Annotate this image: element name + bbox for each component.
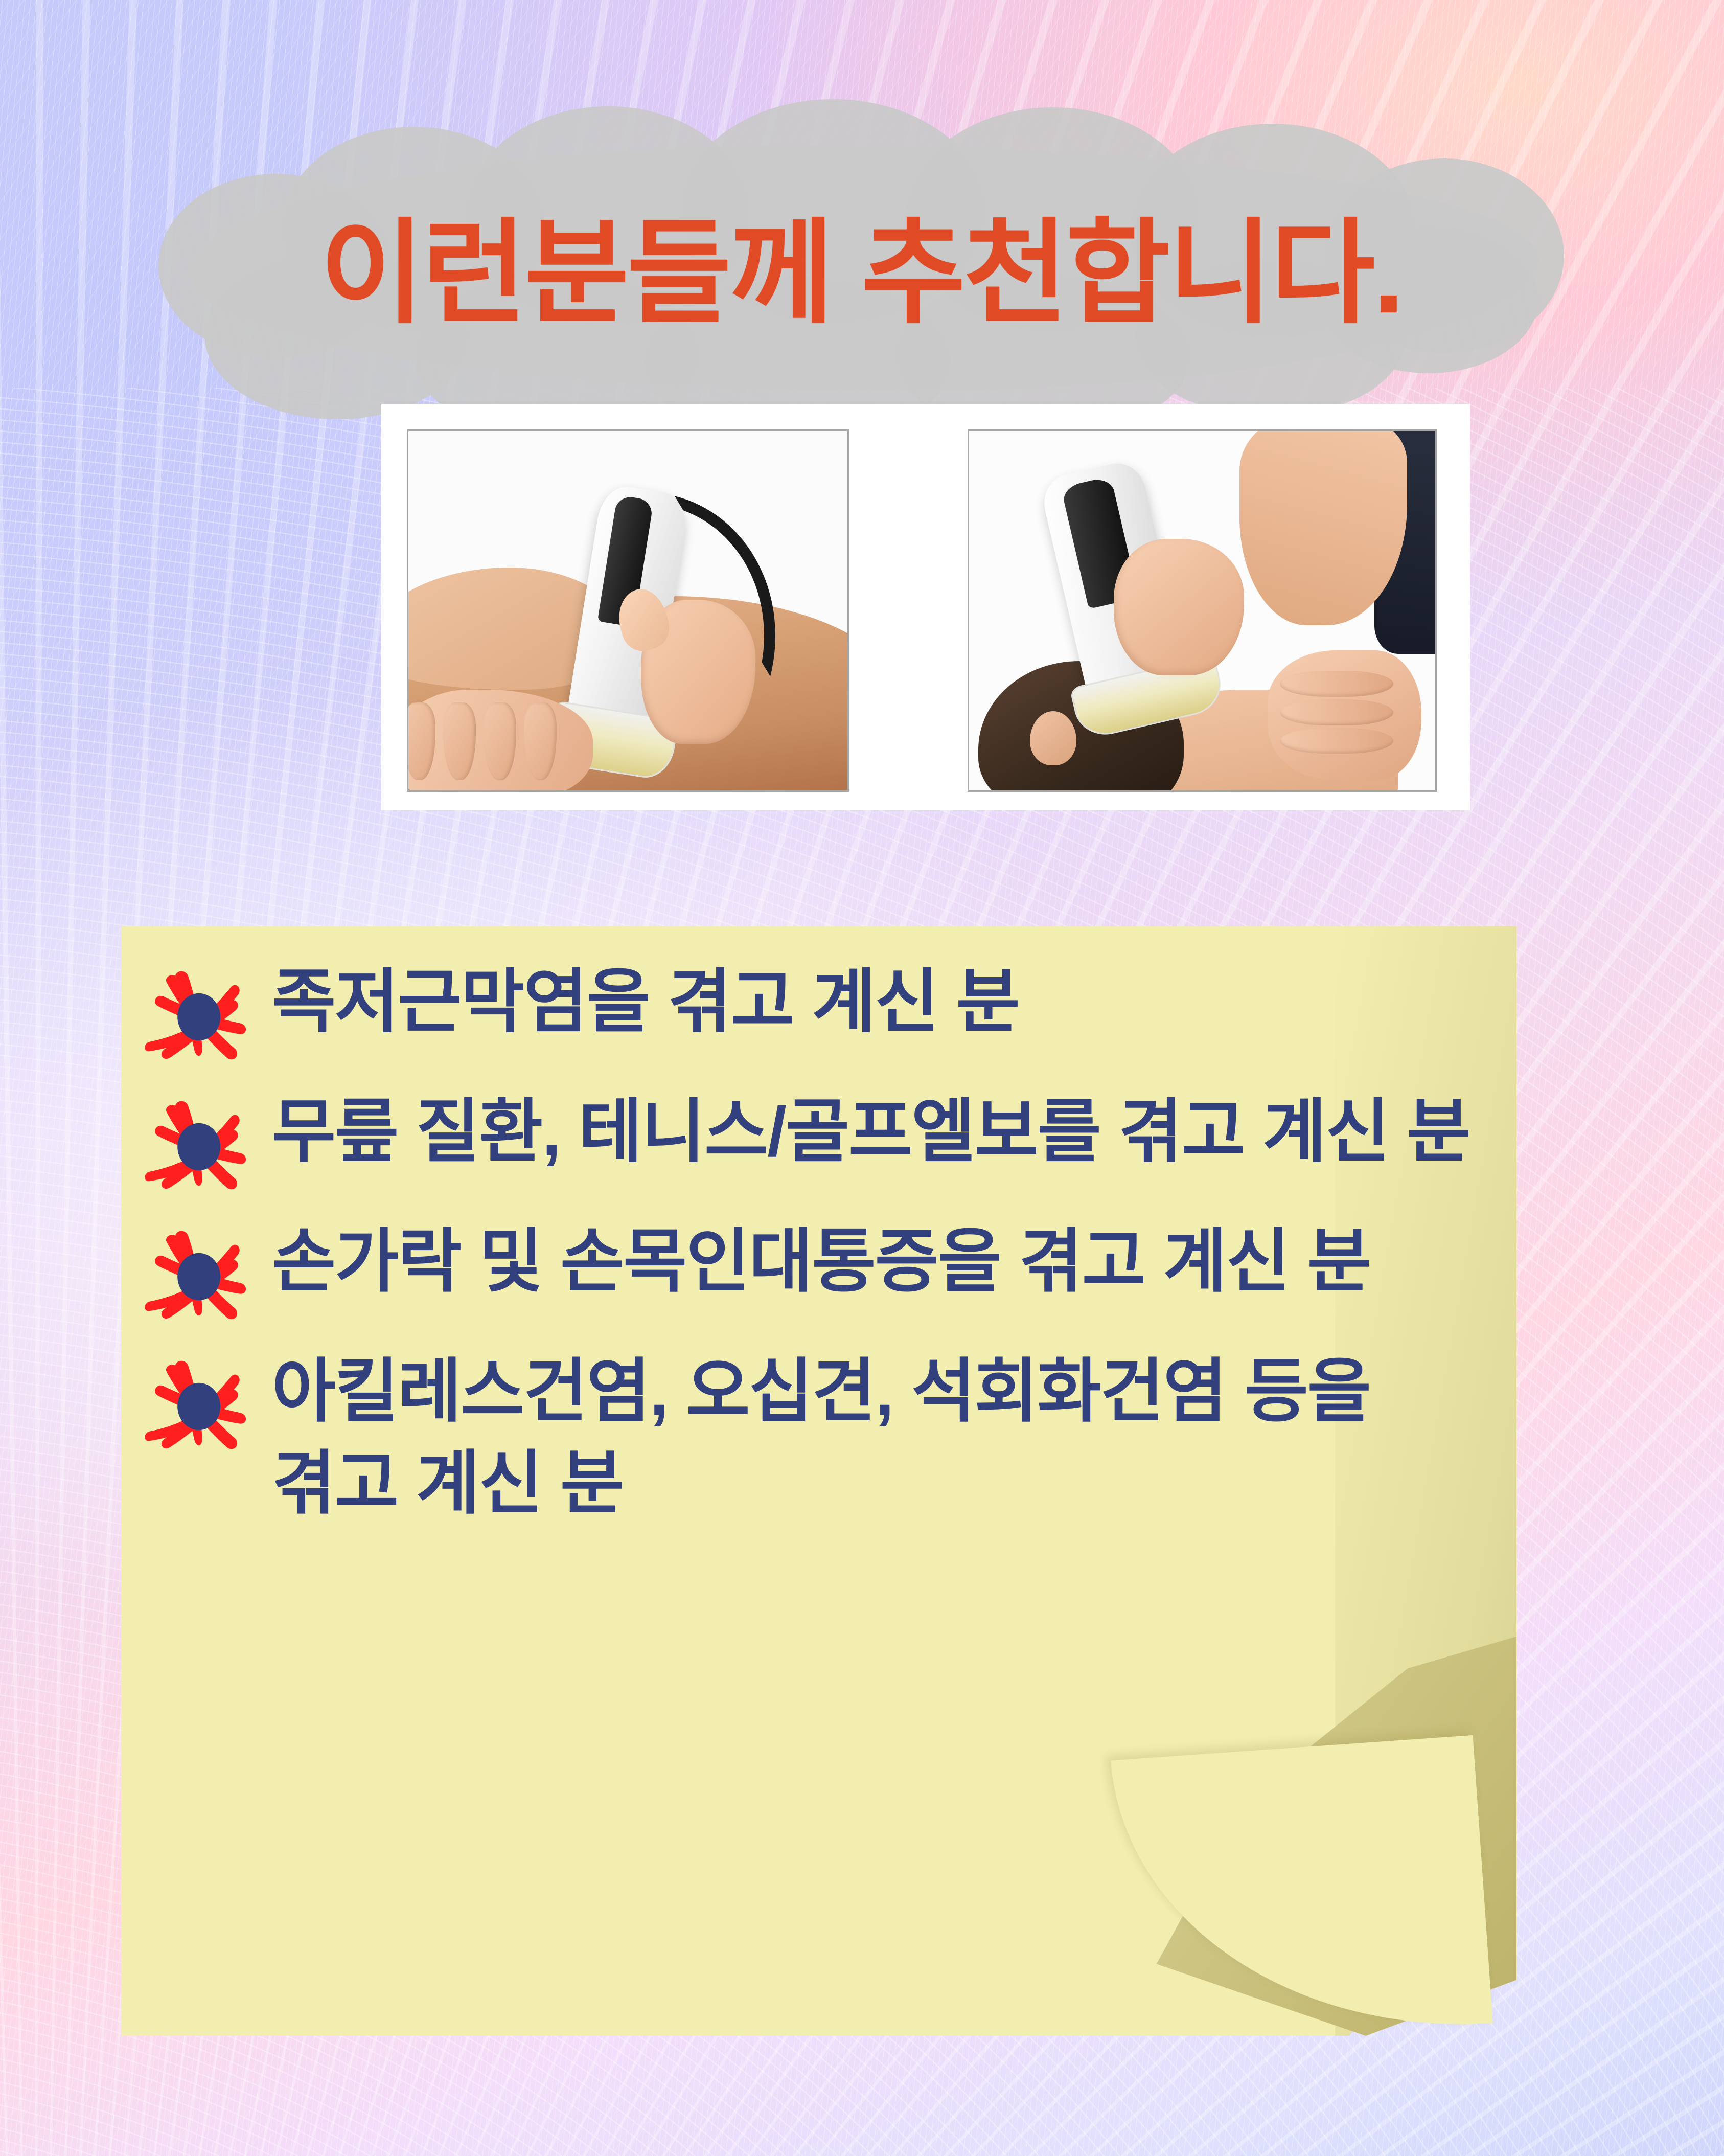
- list-item-label: 손가락 및 손목인대통증을 겪고 계신 분: [272, 1216, 1401, 1308]
- list-item: 족저근막염을 겪고 계신 분: [121, 956, 1516, 1071]
- bullet-cell: [121, 1216, 272, 1330]
- red-star-scribble-icon: [143, 1223, 250, 1330]
- bullet-cell: [121, 956, 272, 1071]
- list-item: 무릎 질환, 테니스/골프엘보를 겪고 계신 분: [121, 1086, 1516, 1200]
- photo-illustration: [408, 431, 847, 790]
- photo-illustration: [969, 431, 1435, 790]
- list-item: 아킬레스건염, 오십견, 석회화건염 등을 겪고 계신 분: [121, 1346, 1516, 1529]
- red-star-scribble-icon: [143, 1093, 250, 1200]
- page-title: 이런분들께 추천합니다.: [128, 97, 1595, 450]
- poster-root: 이런분들께 추천합니다.: [0, 0, 1724, 2156]
- list-item-label: 족저근막염을 겪고 계신 분: [272, 956, 1096, 1048]
- shockwave-therapy-back-photo: [407, 429, 849, 792]
- red-star-scribble-icon: [143, 963, 250, 1071]
- list-item-label: 무릎 질환, 테니스/골프엘보를 겪고 계신 분: [272, 1086, 1501, 1178]
- list-item: 손가락 및 손목인대통증을 겪고 계신 분: [121, 1216, 1516, 1330]
- photo-panel: [381, 404, 1470, 810]
- list-item-label: 아킬레스건염, 오십견, 석회화건염 등을 겪고 계신 분: [272, 1346, 1516, 1529]
- title-banner: 이런분들께 추천합니다.: [128, 97, 1595, 450]
- bullet-cell: [121, 1346, 272, 1460]
- shockwave-therapy-neck-photo: [968, 429, 1437, 792]
- recommendation-card: 족저근막염을 겪고 계신 분 무릎 질환, 테니스/골프엘보를 겪고 계신 분: [121, 926, 1516, 2036]
- recommendation-list: 족저근막염을 겪고 계신 분 무릎 질환, 테니스/골프엘보를 겪고 계신 분: [121, 926, 1516, 1545]
- bullet-cell: [121, 1086, 272, 1200]
- red-star-scribble-icon: [143, 1353, 250, 1460]
